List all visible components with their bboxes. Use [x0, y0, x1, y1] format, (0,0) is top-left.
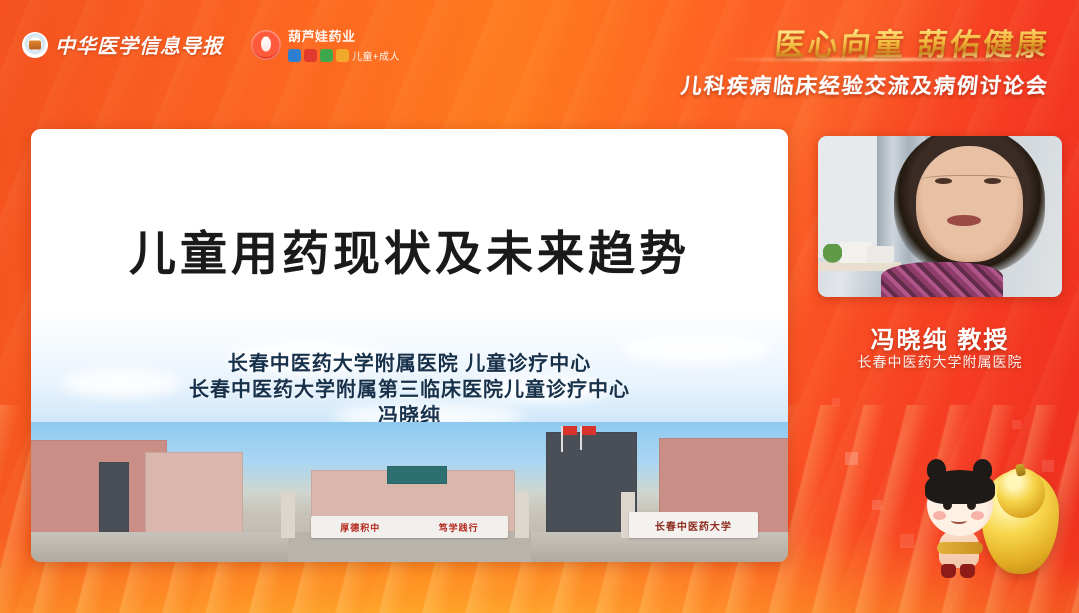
decor-square [872, 500, 882, 510]
slide-line-1: 长春中医药大学附属医院 儿童诊疗中心 [31, 351, 788, 377]
mascot-eye [967, 500, 976, 510]
broadcast-stage: 中华医学信息导报 葫芦娃药业 儿童+成人 医心向童 葫佑健康 儿科疾病 [0, 0, 1079, 613]
logo-gourd-tagline: 儿童+成人 [352, 48, 400, 63]
gourd-brand-icon [251, 30, 281, 60]
cmda-emblem-icon [22, 32, 48, 58]
speaker-face [916, 146, 1023, 262]
mascot-eye [943, 500, 952, 510]
video-wall [818, 136, 881, 258]
decor-square [832, 398, 840, 406]
campus-sign-left-text: 厚德积中 [340, 521, 380, 534]
mascot-cheek [971, 511, 984, 520]
speaker-name: 冯晓纯 教授 [818, 320, 1062, 355]
brand-chip-green-icon [320, 49, 333, 62]
mascot-mouth [951, 517, 967, 524]
logo-gourd-chips: 儿童+成人 [288, 48, 400, 63]
slide-campus-photo: 厚德积中 笃学践行 长春中医药大学 [31, 422, 788, 562]
mascot-boot [960, 564, 975, 578]
mascot-leaf-skirt [937, 542, 983, 554]
campus-gate-sign: 长春中医药大学 [629, 512, 758, 538]
calabash-mascot [915, 440, 1065, 580]
decor-square [845, 452, 858, 465]
slide-line-2: 长春中医药大学附属第三临床医院儿童诊疗中心 [31, 377, 788, 403]
speaker-organization: 长春中医药大学附属医院 [818, 352, 1062, 372]
logo-gourd-name: 葫芦娃药业 [288, 26, 400, 45]
event-subtitle: 儿科疾病临床经验交流及病例讨论会 [679, 70, 1050, 100]
logo-gourd-text: 葫芦娃药业 儿童+成人 [288, 26, 400, 63]
campus-sign-right-text: 笃学践行 [439, 521, 479, 534]
brand-chip-orange-icon [336, 49, 349, 62]
brand-chip-red-icon [304, 49, 317, 62]
mascot-hair-bun [973, 459, 992, 480]
campus-stone-sign: 厚德积中 笃学践行 [311, 516, 508, 538]
logo-gourd-pharma: 葫芦娃药业 儿童+成人 [251, 26, 400, 63]
decor-square [1012, 420, 1021, 429]
gourd-stem-icon [1015, 463, 1026, 477]
speaker-shirt [881, 262, 1003, 297]
logo-cmda: 中华医学信息导报 [22, 30, 223, 59]
decor-square [900, 534, 914, 548]
video-box [867, 246, 894, 264]
campus-gate-text: 长春中医药大学 [655, 518, 732, 533]
mascot-boot [941, 564, 956, 578]
presentation-slide[interactable]: 儿童用药现状及未来趋势 长春中医药大学附属医院 儿童诊疗中心 长春中医药大学附属… [31, 129, 788, 562]
speaker-video-panel[interactable] [818, 136, 1062, 297]
title-shine-decor [721, 58, 1051, 61]
mascot-cheek [933, 511, 946, 520]
video-plant [823, 244, 843, 267]
slide-title: 儿童用药现状及未来趋势 [31, 215, 788, 284]
mascot-hair-bun [927, 459, 946, 480]
logo-cmda-name: 中华医学信息导报 [55, 30, 223, 59]
broadcast-header: 中华医学信息导报 葫芦娃药业 儿童+成人 医心向童 葫佑健康 儿科疾病 [0, 0, 1079, 115]
brand-chip-blue-icon [288, 49, 301, 62]
sponsor-logos: 中华医学信息导报 葫芦娃药业 儿童+成人 [22, 26, 400, 63]
